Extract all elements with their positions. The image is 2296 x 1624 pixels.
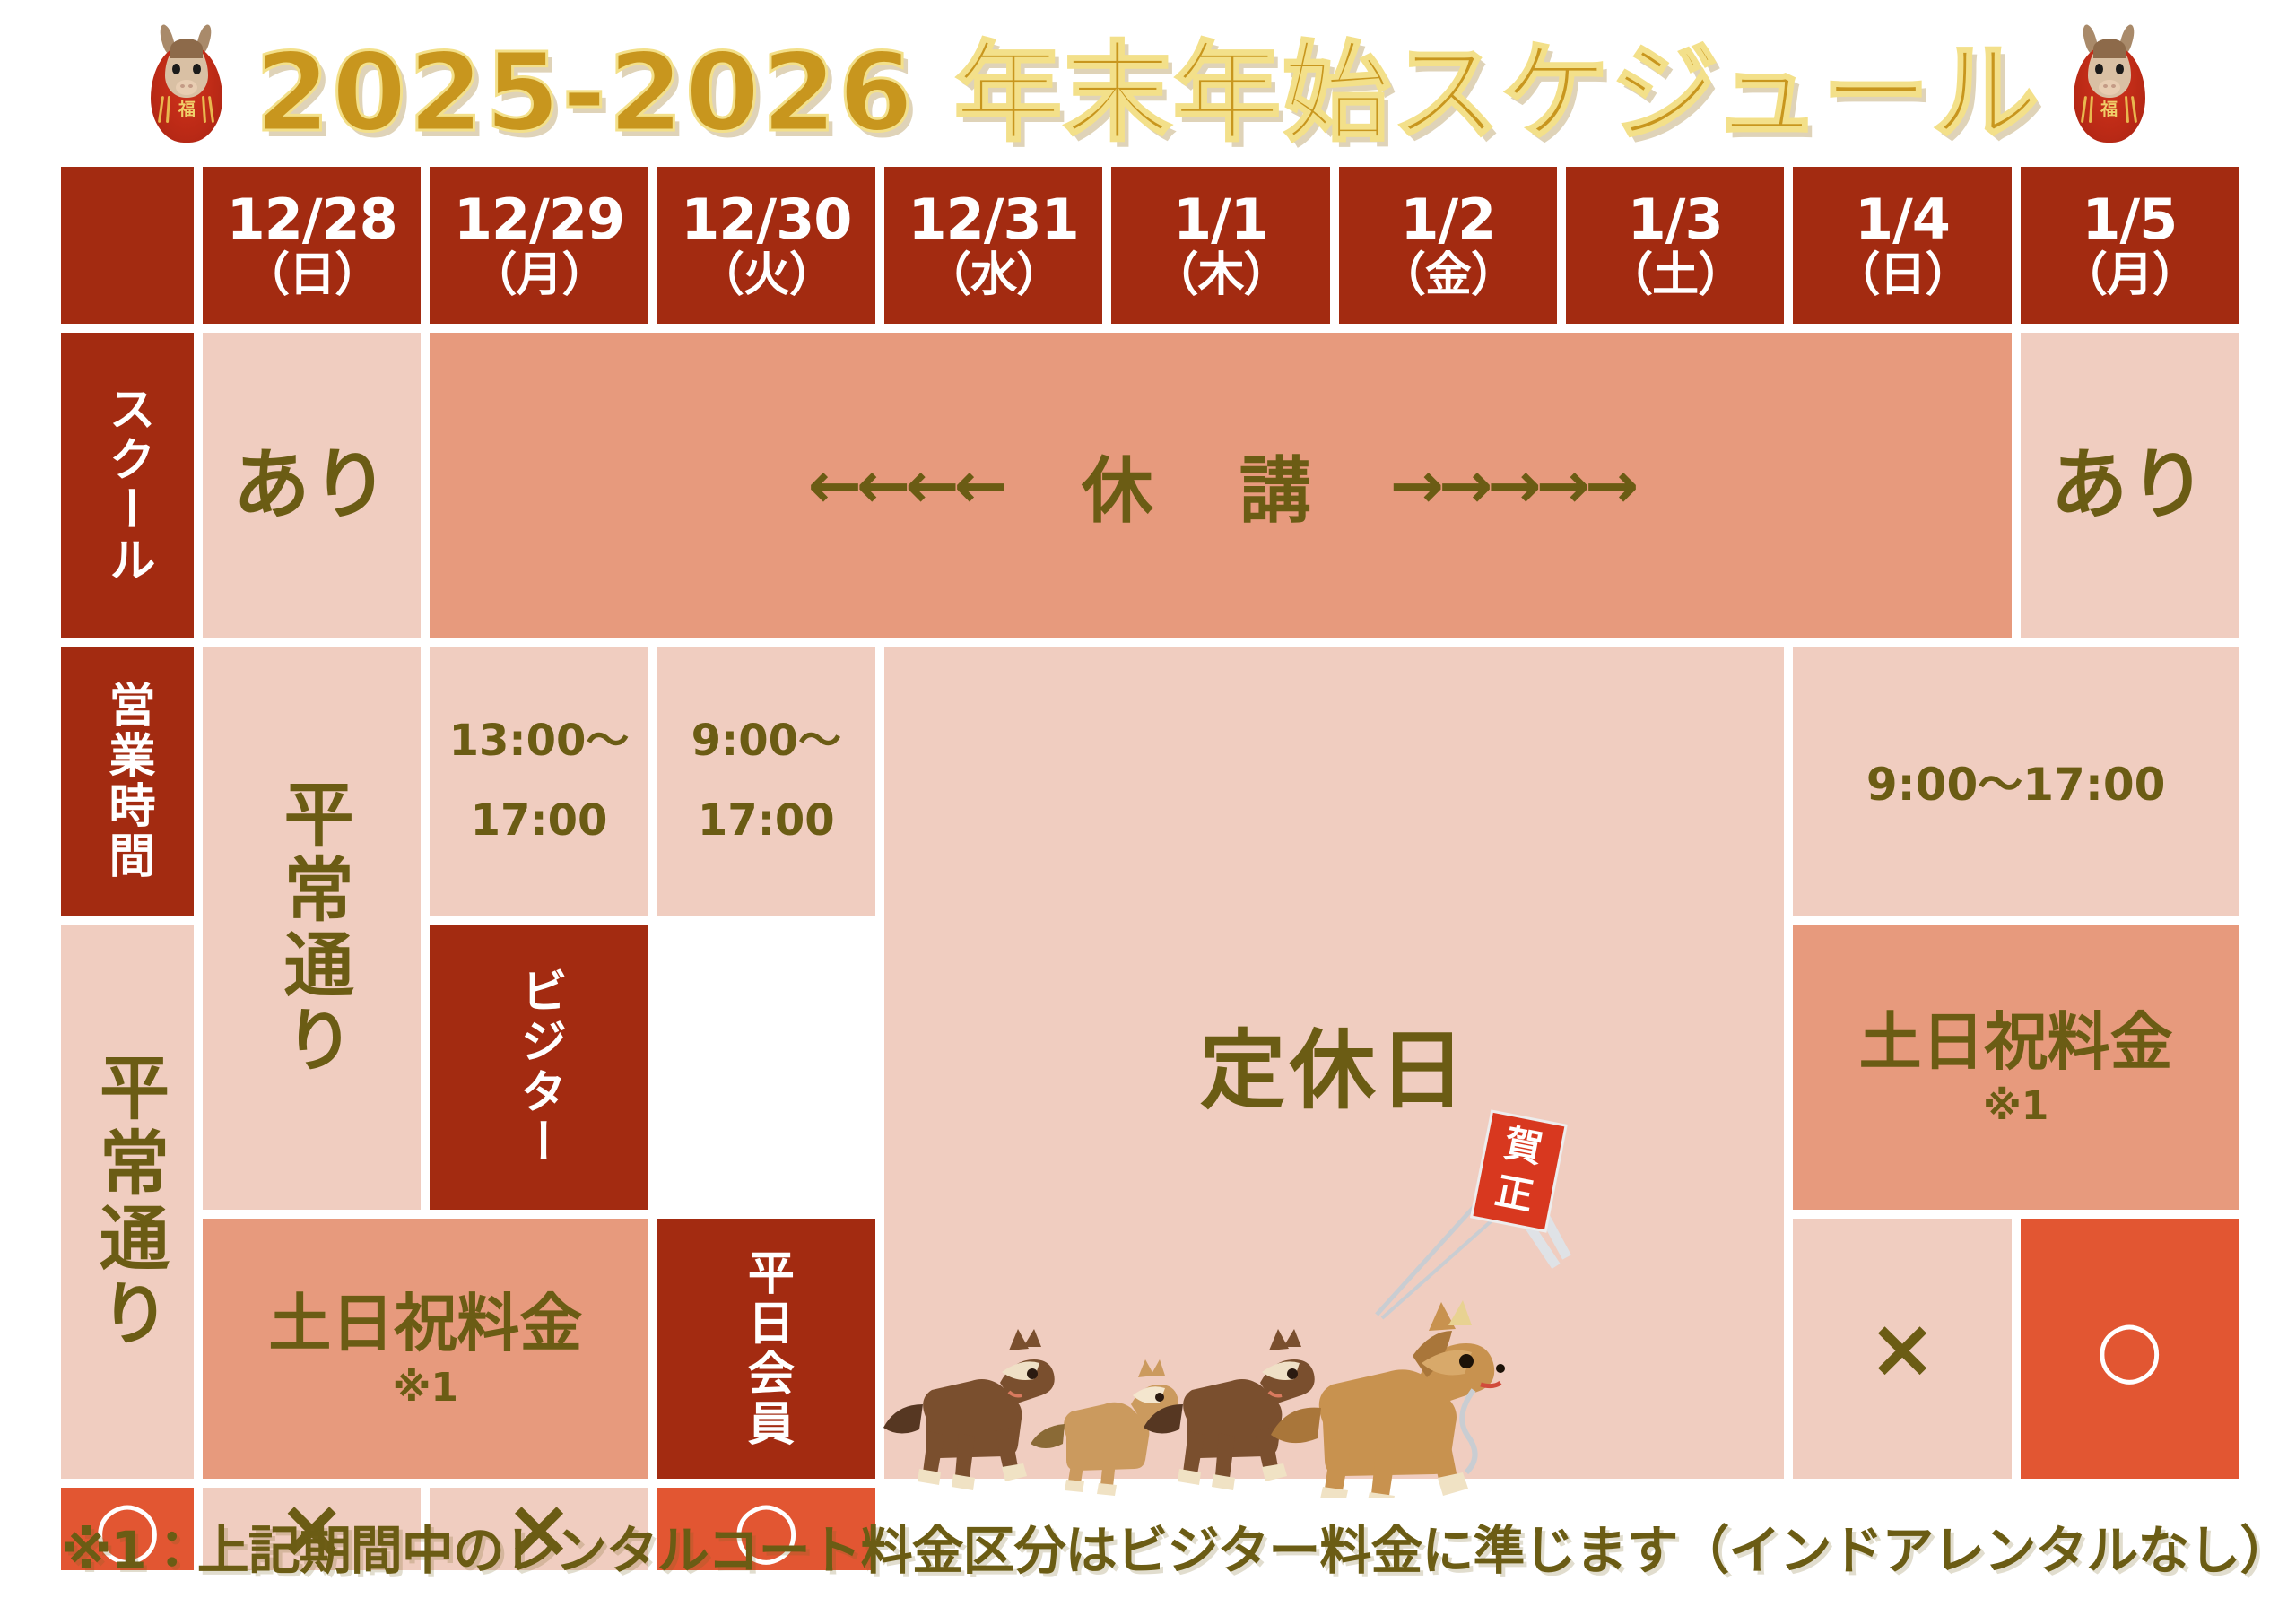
table-corner: [61, 167, 194, 324]
daruma-horse-icon-right: 福: [2066, 24, 2152, 143]
header-dow: （土）: [1606, 250, 1744, 300]
header-dow: （金）: [1379, 250, 1517, 300]
hours-12-29: 13:00〜 17:00: [430, 647, 648, 916]
header-date: 12/29: [454, 187, 624, 252]
column-header-12-28: 12/28（日）: [203, 167, 421, 324]
closed-label: 定休日: [1200, 1001, 1469, 1125]
fuku-label: 福: [143, 101, 230, 118]
closed-period-cell: 定休日: [884, 647, 1784, 1479]
header-dow: （月）: [454, 250, 624, 300]
visitor-fee-note: ※1: [1859, 1081, 2173, 1131]
column-header-1-3: 1/3（土）: [1566, 167, 1784, 324]
header-date: 1/3: [1628, 187, 1723, 252]
header-dow: （日）: [227, 250, 397, 300]
arrows-right: →→→→→: [1390, 447, 1634, 523]
column-header-1-2: 1/2（金）: [1339, 167, 1557, 324]
schedule-table: 12/28（日） 12/29（月） 12/30（火） 12/31（水） 1/1（…: [61, 167, 2239, 1494]
school-closed-label: 休 講: [1051, 433, 1342, 537]
hours-12-29-line1: 13:00〜: [449, 701, 630, 781]
column-header-12-31: 12/31（水）: [884, 167, 1102, 324]
visitor-fee-note: ※1: [268, 1363, 582, 1412]
hours-12-30: 9:00〜 17:00: [657, 647, 875, 916]
column-header-1-5: 1/5（月）: [2021, 167, 2239, 324]
row-label-weekday-member: 平日会員: [657, 1219, 875, 1479]
header-date: 1/1: [1173, 187, 1268, 252]
header-date: 1/4: [1855, 187, 1950, 252]
visitor-fee-1-3-1-4: 土日祝料金 ※1: [203, 1219, 648, 1479]
header-date: 12/31: [909, 187, 1079, 252]
row-label-school: スクール: [61, 333, 194, 638]
header-date: 12/28: [227, 187, 397, 252]
header-dow: （火）: [681, 250, 851, 300]
header-date: 1/5: [2082, 187, 2177, 252]
header-date: 12/30: [681, 187, 851, 252]
hours-12-29-line2: 17:00: [449, 781, 630, 861]
column-header-1-4: 1/4（日）: [1793, 167, 2011, 324]
column-header-1-1: 1/1（木）: [1111, 167, 1329, 324]
hours-12-28-normal: 平常通り: [203, 647, 421, 1210]
header-date: 1/2: [1400, 187, 1495, 252]
visitor-fee-12-29-12-30: 土日祝料金 ※1: [1793, 925, 2239, 1210]
hours-12-30-line1: 9:00〜: [691, 701, 841, 781]
header-dow: （月）: [2061, 250, 2198, 300]
daruma-horse-icon-left: 福: [143, 24, 230, 143]
weekday-member-12-28: ×: [1793, 1219, 2011, 1479]
page-title: 2025-2026 年末年始スケジュール: [255, 5, 2040, 161]
column-header-12-29: 12/29（月）: [430, 167, 648, 324]
row-label-visitor: ビジター: [430, 925, 648, 1210]
school-12-28: あり: [203, 333, 421, 638]
visitor-fee-label: 土日祝料金: [268, 1287, 582, 1360]
footnote-text: ※1：上記期間中のレンタルコート料金区分はビジター料金に準じます（インドアレンタ…: [61, 1503, 2239, 1589]
school-closed-span: ←←←← 休 講 →→→→→: [430, 333, 2011, 638]
header-dow: （日）: [1833, 250, 1970, 300]
hours-1-5-normal: 平常通り: [61, 925, 194, 1479]
fuku-label: 福: [2066, 101, 2152, 118]
hours-1-3-1-4: 9:00〜17:00: [1793, 647, 2239, 916]
schedule-poster: 福 2025-2026 年末年始スケジュール 福 12/28（日） 12/29（…: [0, 0, 2296, 1624]
row-label-hours: 営業時間: [61, 647, 194, 916]
header-dow: （木）: [1152, 250, 1289, 300]
arrows-left: ←←←←: [808, 447, 1003, 523]
school-1-5: あり: [2021, 333, 2239, 638]
weekday-member-12-29: ○: [2021, 1219, 2239, 1479]
header-dow: （水）: [909, 250, 1079, 300]
column-header-12-30: 12/30（火）: [657, 167, 875, 324]
title-bar: 福 2025-2026 年末年始スケジュール 福: [0, 0, 2296, 166]
visitor-fee-label: 土日祝料金: [1859, 1005, 2173, 1079]
hours-12-30-line2: 17:00: [691, 781, 841, 861]
